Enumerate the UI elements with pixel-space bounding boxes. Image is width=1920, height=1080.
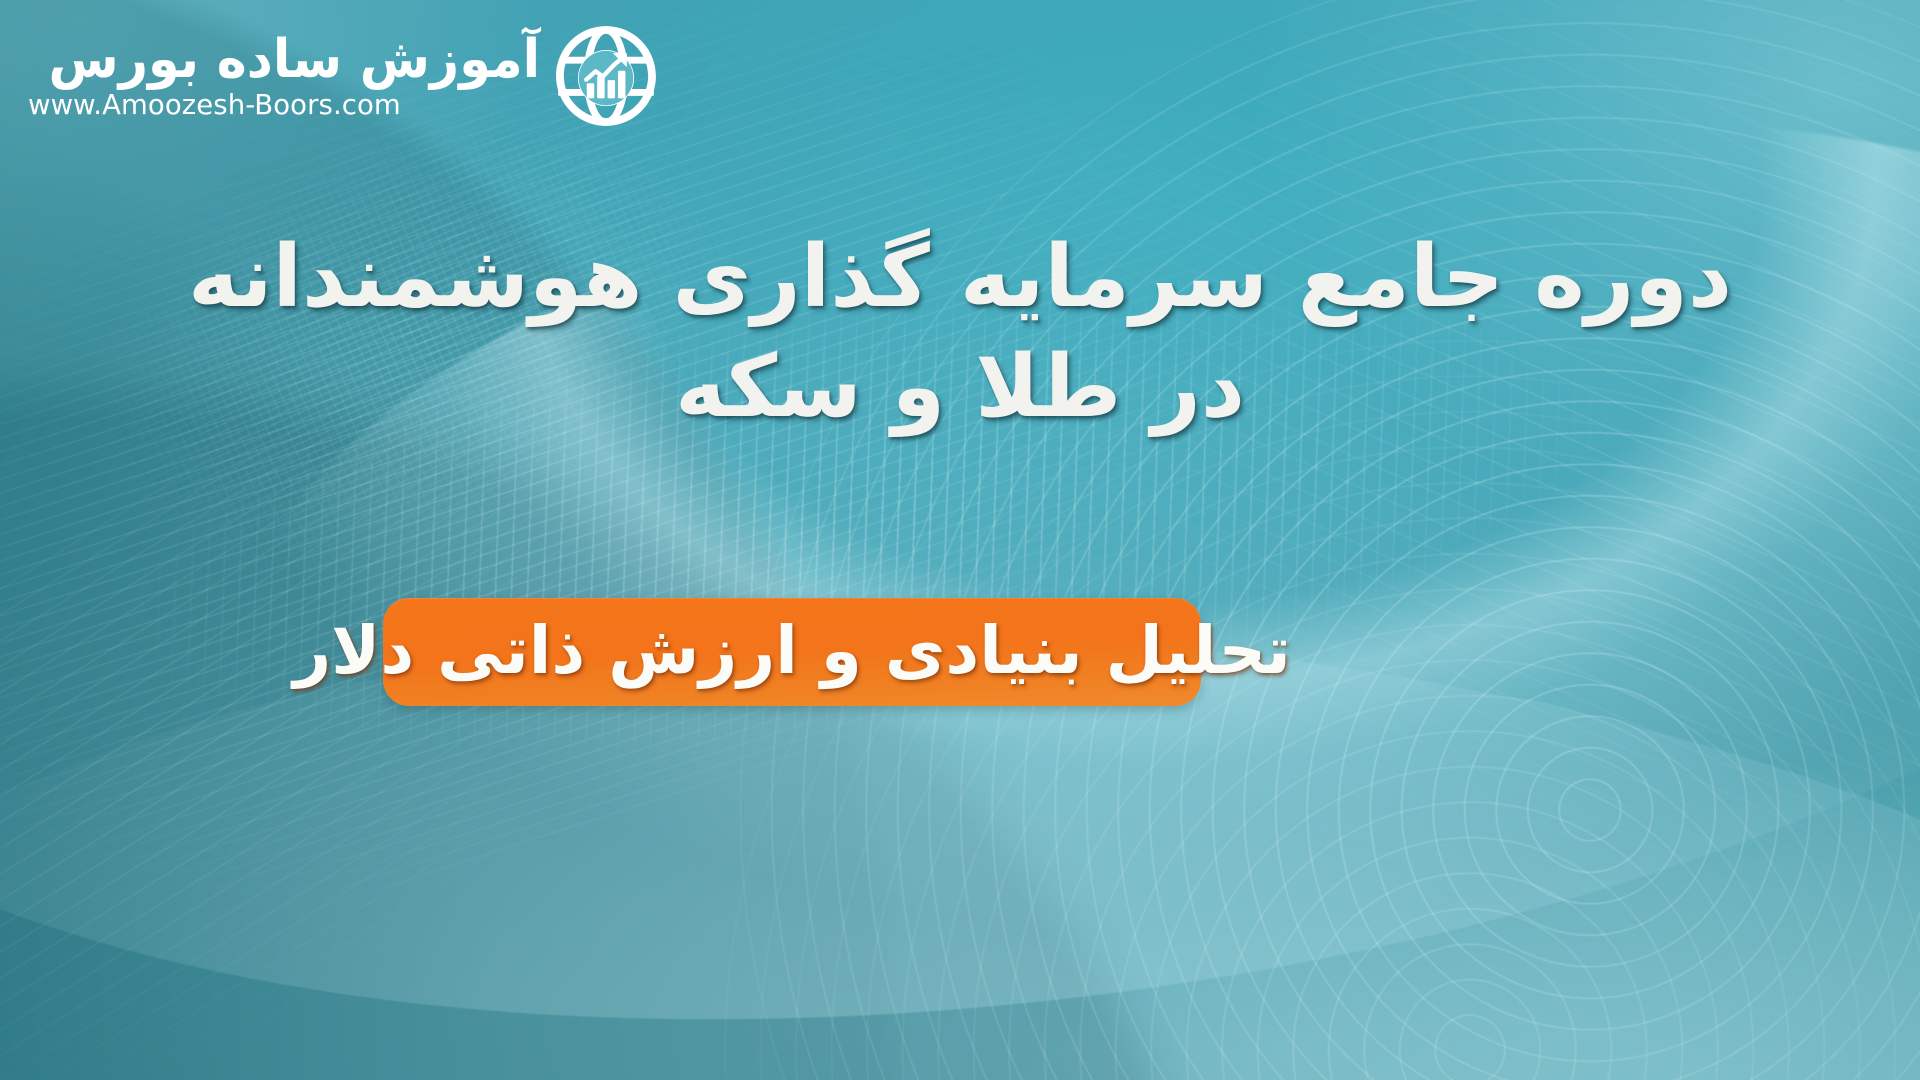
background-soften-overlay xyxy=(0,0,1920,1080)
background-bloom-bottom-right xyxy=(0,0,1920,1080)
brand-website: www.Amoozesh-Boors.com xyxy=(28,92,401,120)
background-bloom-top-right xyxy=(0,0,1920,1080)
headline-line-1: دوره جامع سرمایه گذاری هوشمندانه xyxy=(0,222,1920,332)
background-vignette-left xyxy=(0,0,1920,1080)
course-banner: آموزش ساده بورس www.Amoozesh-Boors.com د… xyxy=(0,0,1920,1080)
topic-badge-button[interactable]: تحلیل بنیادی و ارزش ذاتی دلار xyxy=(383,598,1201,706)
headline-line-2: در طلا و سکه xyxy=(0,332,1920,442)
topic-badge-label: تحلیل بنیادی و ارزش ذاتی دلار xyxy=(293,618,1291,684)
globe-chart-icon xyxy=(554,24,658,128)
banner-headline: دوره جامع سرمایه گذاری هوشمندانه در طلا … xyxy=(0,222,1920,442)
background-bottom-right-arcs xyxy=(740,0,1920,1080)
background-bloom-top-left xyxy=(0,0,1920,1080)
background-ribbon-dark-outer xyxy=(0,0,960,1080)
background-right-hairlines xyxy=(848,0,1920,1041)
background-ribbon-main xyxy=(0,0,1920,1080)
background-diagonal-lines xyxy=(0,0,1381,1033)
background-ribbon-crest xyxy=(205,28,1920,1080)
brand-logo[interactable]: آموزش ساده بورس www.Amoozesh-Boors.com xyxy=(28,24,658,128)
brand-name-fa: آموزش ساده بورس xyxy=(48,33,540,86)
brand-logo-text: آموزش ساده بورس www.Amoozesh-Boors.com xyxy=(28,33,540,120)
